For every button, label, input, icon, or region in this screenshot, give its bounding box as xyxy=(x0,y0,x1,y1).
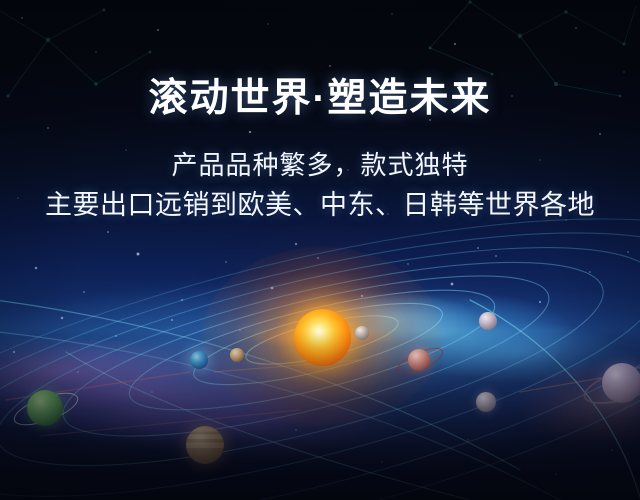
space-hero-banner: 滚动世界·塑造未来 产品品种繁多，款式独特 主要出口远销到欧美、中东、日韩等世界… xyxy=(0,0,640,500)
hero-text-block: 滚动世界·塑造未来 产品品种繁多，款式独特 主要出口远销到欧美、中东、日韩等世界… xyxy=(0,0,640,223)
subtitle-line-2: 主要出口远销到欧美、中东、日韩等世界各地 xyxy=(0,182,640,223)
subtitle-line-1: 产品品种繁多，款式独特 xyxy=(0,121,640,182)
page-title: 滚动世界·塑造未来 xyxy=(0,0,640,121)
